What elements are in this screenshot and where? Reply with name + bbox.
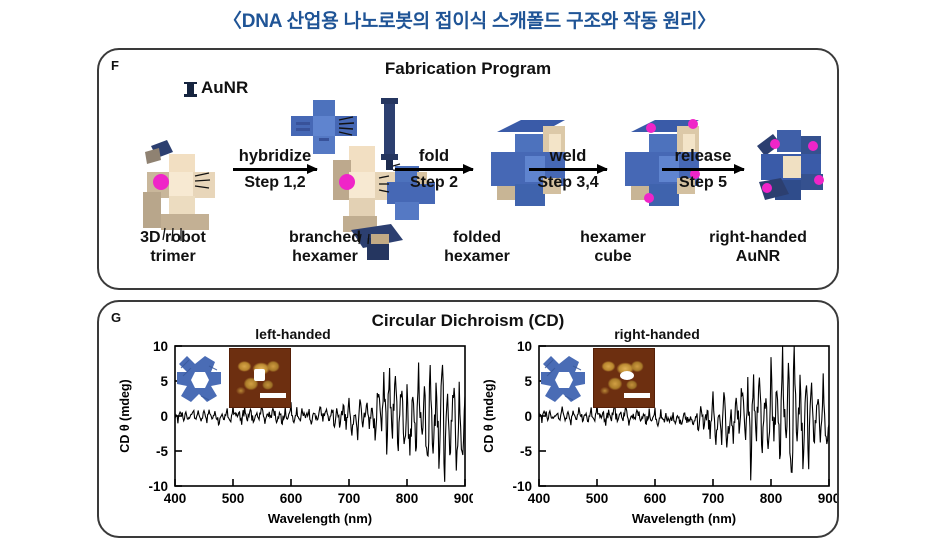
arrow-shaft	[529, 168, 607, 171]
svg-text:-5: -5	[156, 444, 168, 459]
right-handed-hexamer-cube-icon	[535, 352, 593, 408]
svg-text:900: 900	[818, 491, 837, 506]
label-line-2: hexamer	[411, 247, 543, 266]
panel-circular-dichroism: G Circular Dichroism (CD) left-handed -1…	[97, 300, 839, 538]
svg-text:5: 5	[160, 374, 168, 389]
svg-text:-5: -5	[520, 444, 532, 459]
structure-right-handed-aunr	[747, 122, 843, 222]
svg-text:10: 10	[153, 340, 168, 354]
panel-fabrication-program: F Fabrication Program AuNR	[97, 48, 839, 290]
svg-text:700: 700	[338, 491, 361, 506]
svg-text:10: 10	[517, 340, 532, 354]
structure-label-right-handed-aunr: right-handed AuNR	[685, 228, 831, 266]
scale-bar	[624, 393, 650, 398]
gold-nanorod-icon	[187, 82, 194, 97]
scale-bar	[260, 393, 286, 398]
svg-text:500: 500	[222, 491, 245, 506]
aunr-legend-label: AuNR	[201, 78, 248, 98]
svg-text:0: 0	[524, 409, 532, 424]
structure-label-3d-robot-trimer: 3D robot trimer	[107, 228, 239, 266]
svg-text:CD θ (mdeg): CD θ (mdeg)	[482, 379, 496, 452]
structure-label-hexamer-cube: hexamer cube	[547, 228, 679, 266]
step-number: Step 5	[655, 173, 751, 193]
tem-bright-feature	[254, 369, 265, 381]
svg-text:500: 500	[586, 491, 609, 506]
step-arrow-release: release Step 5	[655, 147, 751, 193]
svg-text:400: 400	[164, 491, 187, 506]
svg-text:800: 800	[396, 491, 419, 506]
label-line-2: hexamer	[259, 247, 391, 266]
arrow-shaft	[662, 168, 744, 171]
svg-text:0: 0	[160, 409, 168, 424]
tem-image-left-handed	[229, 348, 291, 408]
tem-image-right-handed	[593, 348, 655, 408]
svg-text:700: 700	[702, 491, 725, 506]
panel-f-heading: Fabrication Program	[99, 59, 837, 79]
step-number: Step 1,2	[227, 173, 323, 193]
chart-right-svg: -10-50510400500600700800900Wavelength (n…	[477, 340, 837, 526]
label-line-1: branched	[259, 228, 391, 247]
arrow-shaft	[395, 168, 473, 171]
label-line-2: trimer	[107, 247, 239, 266]
label-line-1: hexamer	[547, 228, 679, 247]
step-number: Step 3,4	[523, 173, 613, 193]
step-arrow-weld: weld Step 3,4	[523, 147, 613, 193]
svg-text:600: 600	[280, 491, 303, 506]
arrow-shaft	[233, 168, 317, 171]
label-line-2: cube	[547, 247, 679, 266]
step-number: Step 2	[389, 173, 479, 193]
figure-title: 〈DNA 산업용 나노로봇의 접이식 스캐폴드 구조와 작동 원리〉	[0, 6, 939, 33]
step-arrow-hybridize: hybridize Step 1,2	[227, 147, 323, 193]
chart-left-svg: -10-50510400500600700800900Wavelength (n…	[113, 340, 473, 526]
tem-bright-feature	[620, 371, 634, 380]
step-arrow-fold: fold Step 2	[389, 147, 479, 193]
aunr-legend: AuNR	[187, 78, 248, 98]
label-line-2: AuNR	[685, 247, 831, 266]
label-line-1: right-handed	[685, 228, 831, 247]
svg-text:5: 5	[524, 374, 532, 389]
svg-text:CD θ (mdeg): CD θ (mdeg)	[118, 379, 132, 452]
left-handed-hexamer-cube-icon	[171, 352, 229, 408]
structure-label-branched-hexamer: branched hexamer	[259, 228, 391, 266]
svg-text:Wavelength (nm): Wavelength (nm)	[268, 511, 372, 526]
structure-label-folded-hexamer: folded hexamer	[411, 228, 543, 266]
svg-text:Wavelength (nm): Wavelength (nm)	[632, 511, 736, 526]
label-line-1: 3D robot	[107, 228, 239, 247]
svg-text:600: 600	[644, 491, 667, 506]
label-line-1: folded	[411, 228, 543, 247]
svg-text:400: 400	[528, 491, 551, 506]
svg-text:800: 800	[760, 491, 783, 506]
svg-text:900: 900	[454, 491, 473, 506]
